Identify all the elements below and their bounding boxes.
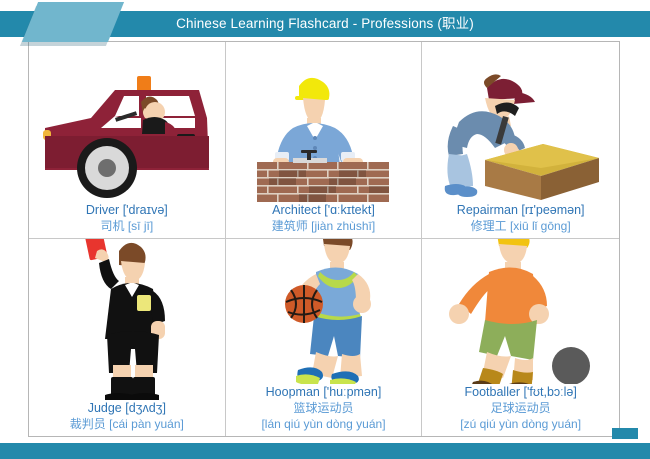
card-pinyin-label: [lán qiú yùn dòng yuán]	[226, 416, 422, 432]
caption-driver: Driver ['draɪvə] 司机 [sī jī]	[29, 202, 225, 238]
referee-svg	[67, 239, 187, 400]
basketball-player-illustration	[226, 239, 422, 384]
flashcard-hoopman[interactable]: Hoopman ['huːpmən] 篮球运动员 [lán qiú yùn dò…	[226, 239, 423, 436]
caption-hoopman: Hoopman ['huːpmən] 篮球运动员 [lán qiú yùn dò…	[226, 384, 422, 436]
flashcard-driver[interactable]: Driver ['draɪvə] 司机 [sī jī]	[29, 42, 226, 239]
wooden-box	[485, 144, 599, 200]
card-chinese-label: 裁判员 [cái pàn yuán]	[29, 416, 225, 432]
card-english-label: Repairman [rɪ'peəmən]	[422, 202, 619, 218]
footballer-svg	[441, 239, 601, 384]
card-chinese-label: 足球运动员	[422, 400, 619, 416]
card-chinese-label: 篮球运动员	[226, 400, 422, 416]
footballer-illustration	[422, 239, 619, 384]
footer-bar	[0, 443, 650, 459]
bricklayer-illustration	[226, 42, 422, 202]
card-english-label: Hoopman ['huːpmən]	[226, 384, 422, 400]
card-english-label: Judge [dʒʌdʒ]	[29, 400, 225, 416]
caption-architect: Architect ['ɑːkɪtekt] 建筑师 [jiàn zhùshī]	[226, 202, 422, 238]
flashcard-judge[interactable]: Judge [dʒʌdʒ] 裁判员 [cái pàn yuán]	[29, 239, 226, 436]
carpenter-illustration	[422, 42, 619, 202]
bricklayer-svg	[253, 70, 393, 202]
flashcard-repairman[interactable]: Repairman [rɪ'peəmən] 修理工 [xiū lǐ gōng]	[422, 42, 619, 239]
flashcard-page: Chinese Learning Flashcard - Professions…	[0, 0, 650, 459]
card-english-label: Footballer ['fʊt,bɔːlə]	[422, 384, 619, 400]
flashcard-footballer[interactable]: Footballer ['fʊt,bɔːlə] 足球运动员 [zú qiú yù…	[422, 239, 619, 436]
brick-wall	[257, 162, 389, 202]
card-english-label: Architect ['ɑːkɪtekt]	[226, 202, 422, 218]
caption-judge: Judge [dʒʌdʒ] 裁判员 [cái pàn yuán]	[29, 400, 225, 436]
card-chinese-label: 修理工 [xiū lǐ gōng]	[422, 218, 619, 234]
taxi-driver-svg	[29, 72, 225, 202]
caption-repairman: Repairman [rɪ'peəmən] 修理工 [xiū lǐ gōng]	[422, 202, 619, 238]
flashcard-grid: Driver ['draɪvə] 司机 [sī jī]	[28, 41, 620, 437]
card-pinyin-label: [zú qiú yùn dòng yuán]	[422, 416, 619, 432]
footer-accent-square	[612, 428, 638, 439]
card-chinese-label: 建筑师 [jiàn zhùshī]	[226, 218, 422, 234]
page-title: Chinese Learning Flashcard - Professions…	[0, 11, 650, 37]
referee-illustration	[29, 239, 225, 400]
caption-footballer: Footballer ['fʊt,bɔːlə] 足球运动员 [zú qiú yù…	[422, 384, 619, 436]
card-english-label: Driver ['draɪvə]	[29, 202, 225, 218]
basketball-player-svg	[258, 239, 388, 384]
flashcard-architect[interactable]: Architect ['ɑːkɪtekt] 建筑师 [jiàn zhùshī]	[226, 42, 423, 239]
taxi-driver-illustration	[29, 42, 225, 202]
card-chinese-label: 司机 [sī jī]	[29, 218, 225, 234]
carpenter-svg	[431, 70, 611, 202]
